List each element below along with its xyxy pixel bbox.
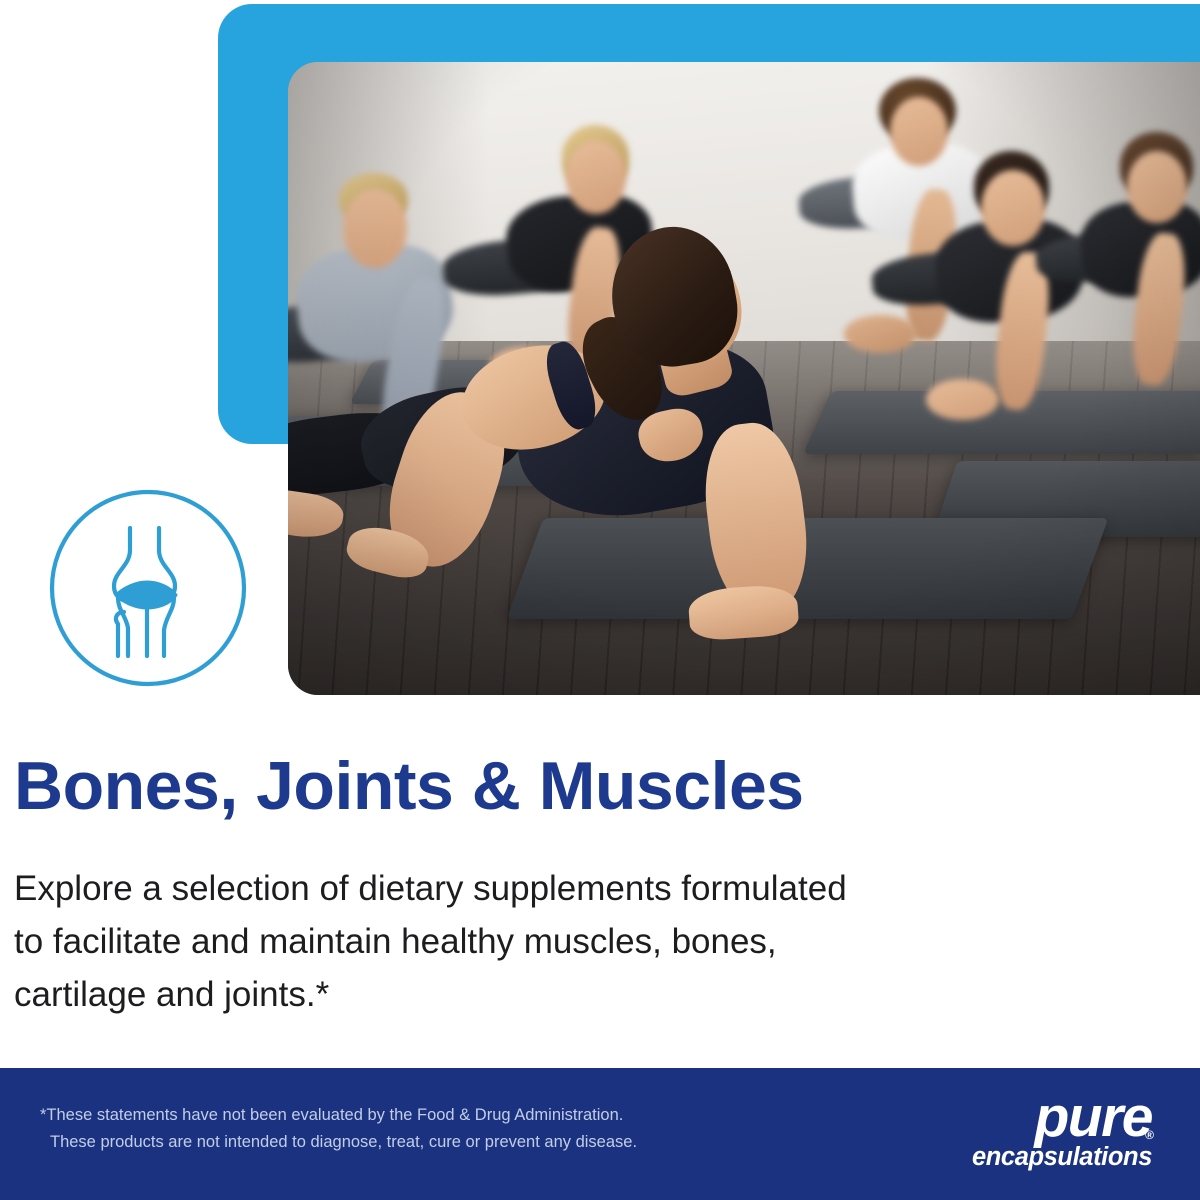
disclaimer-line: *These statements have not been evaluate… — [40, 1102, 637, 1129]
background-person — [566, 141, 626, 214]
yoga-mat-foreground — [507, 518, 1109, 619]
fda-disclaimer: *These statements have not been evaluate… — [40, 1102, 637, 1155]
subcopy-line: cartilage and joints.* — [14, 968, 1134, 1021]
background-person — [926, 379, 999, 420]
disclaimer-line: These products are not intended to diagn… — [40, 1129, 637, 1156]
promo-page: Bones, Joints & Muscles Explore a select… — [0, 0, 1200, 1200]
background-person — [981, 170, 1045, 246]
knee-joint-icon — [48, 488, 248, 688]
brand-logo: pure encapsulations ® — [942, 1090, 1152, 1182]
subcopy-line: Explore a selection of dietary supplemen… — [14, 862, 1134, 915]
footer-bar: *These statements have not been evaluate… — [0, 1068, 1200, 1200]
brand-logo-word: pure — [942, 1090, 1152, 1145]
page-title: Bones, Joints & Muscles — [14, 752, 804, 820]
background-person — [343, 189, 407, 268]
brand-logo-subwrap: encapsulations ® — [942, 1145, 1152, 1171]
background-person — [1127, 151, 1187, 224]
registered-trademark-icon: ® — [1145, 1129, 1154, 1141]
hero-photo — [288, 62, 1200, 695]
brand-logo-sub: encapsulations — [972, 1143, 1152, 1171]
subcopy-line: to facilitate and maintain healthy muscl… — [14, 915, 1134, 968]
page-subcopy: Explore a selection of dietary supplemen… — [14, 862, 1134, 1022]
